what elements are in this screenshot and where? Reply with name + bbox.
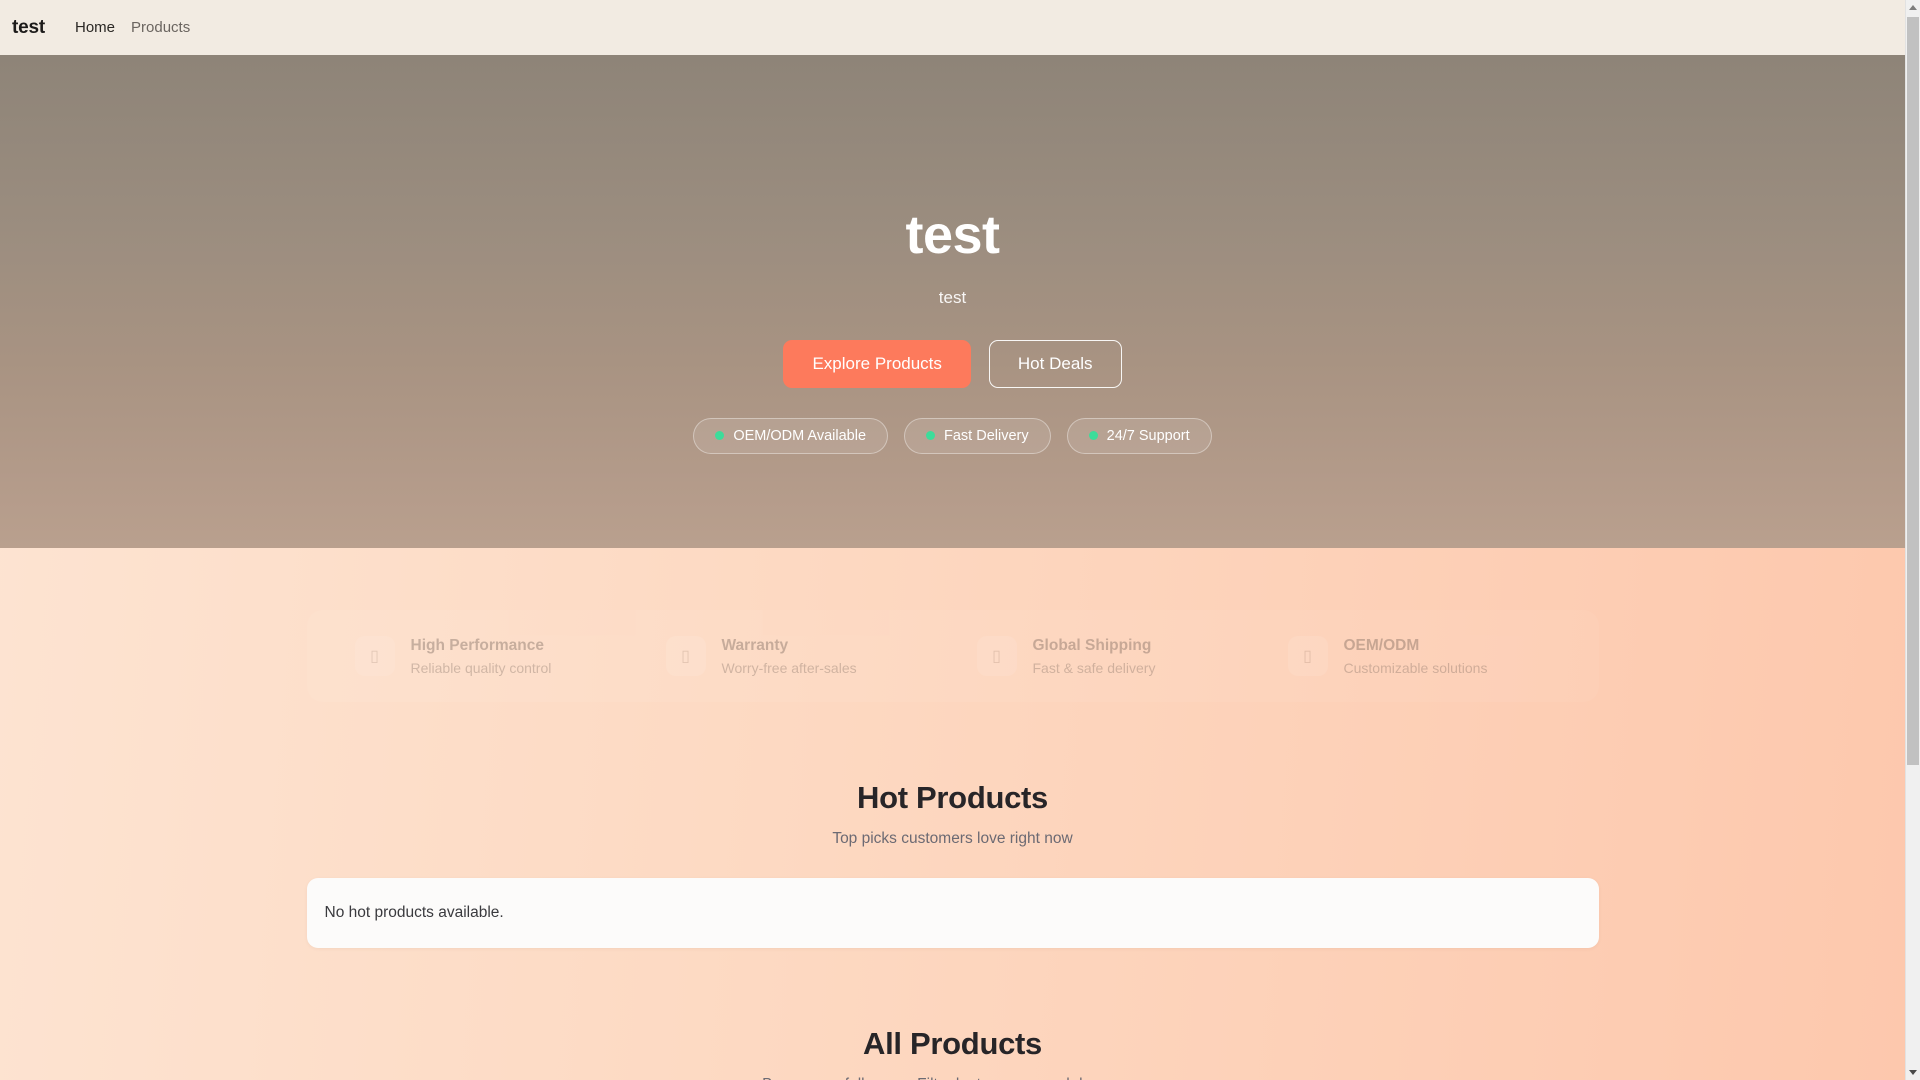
- feature-title: Warranty: [722, 637, 857, 655]
- all-products-title: All Products: [0, 1026, 1905, 1062]
- feature-title: OEM/ODM: [1344, 637, 1488, 655]
- globe-icon: ▯: [977, 636, 1017, 676]
- feature-description: Fast & safe delivery: [1033, 660, 1156, 676]
- explore-products-button[interactable]: Explore Products: [783, 340, 970, 388]
- feature-global-shipping: ▯ Global Shipping Fast & safe delivery: [953, 636, 1264, 676]
- status-dot-icon: [926, 431, 935, 440]
- scroll-up-arrow-icon[interactable]: [1906, 0, 1920, 15]
- browser-viewport: test Home Products test test Explore Pro…: [0, 0, 1920, 1080]
- nav-link-home[interactable]: Home: [67, 15, 123, 40]
- page-scrollbar[interactable]: [1905, 0, 1920, 1080]
- hot-deals-button[interactable]: Hot Deals: [989, 340, 1122, 388]
- scroll-down-arrow-icon[interactable]: [1906, 1065, 1920, 1080]
- pill-label: Fast Delivery: [944, 428, 1029, 444]
- hero-badge-pills: OEM/ODM Available Fast Delivery 24/7 Sup…: [693, 418, 1211, 454]
- features-strip: ▯ High Performance Reliable quality cont…: [307, 610, 1599, 702]
- feature-high-performance: ▯ High Performance Reliable quality cont…: [331, 636, 642, 676]
- gear-icon: ▯: [1288, 636, 1328, 676]
- nav-link-products[interactable]: Products: [123, 15, 198, 40]
- hero-action-buttons: Explore Products Hot Deals: [783, 340, 1121, 388]
- shield-icon: ▯: [666, 636, 706, 676]
- features-strip-wrapper: ▯ High Performance Reliable quality cont…: [0, 548, 1905, 702]
- feature-title: Global Shipping: [1033, 637, 1156, 655]
- hot-products-header: Hot Products Top picks customers love ri…: [0, 780, 1905, 848]
- pill-label: OEM/ODM Available: [733, 428, 866, 444]
- status-dot-icon: [715, 431, 724, 440]
- hero-subtitle: test: [939, 288, 966, 308]
- speed-icon: ▯: [355, 636, 395, 676]
- feature-warranty: ▯ Warranty Worry-free after-sales: [642, 636, 953, 676]
- hero-title: test: [905, 207, 999, 264]
- feature-title: High Performance: [411, 637, 552, 655]
- feature-oem-odm: ▯ OEM/ODM Customizable solutions: [1264, 636, 1575, 676]
- page-content: test Home Products test test Explore Pro…: [0, 0, 1905, 1080]
- feature-description: Reliable quality control: [411, 660, 552, 676]
- pill-fast-delivery[interactable]: Fast Delivery: [904, 418, 1051, 454]
- status-dot-icon: [1089, 431, 1098, 440]
- pill-24-7-support[interactable]: 24/7 Support: [1067, 418, 1212, 454]
- site-logo[interactable]: test: [12, 17, 45, 39]
- feature-description: Worry-free after-sales: [722, 660, 857, 676]
- all-products-subtitle: Browse our full range. Filter by tags or…: [0, 1076, 1905, 1080]
- pill-oem-odm-available[interactable]: OEM/ODM Available: [693, 418, 888, 454]
- hot-products-title: Hot Products: [0, 780, 1905, 816]
- all-products-header: All Products Browse our full range. Filt…: [0, 1026, 1905, 1080]
- hero-section: test test Explore Products Hot Deals OEM…: [0, 55, 1905, 548]
- hot-products-subtitle: Top picks customers love right now: [0, 830, 1905, 848]
- hot-products-panel-wrapper: No hot products available.: [0, 878, 1905, 948]
- feature-description: Customizable solutions: [1344, 660, 1488, 676]
- hot-products-empty-state: No hot products available.: [307, 878, 1599, 948]
- scrollbar-thumb[interactable]: [1907, 17, 1919, 765]
- top-navbar: test Home Products: [0, 0, 1905, 55]
- pill-label: 24/7 Support: [1107, 428, 1190, 444]
